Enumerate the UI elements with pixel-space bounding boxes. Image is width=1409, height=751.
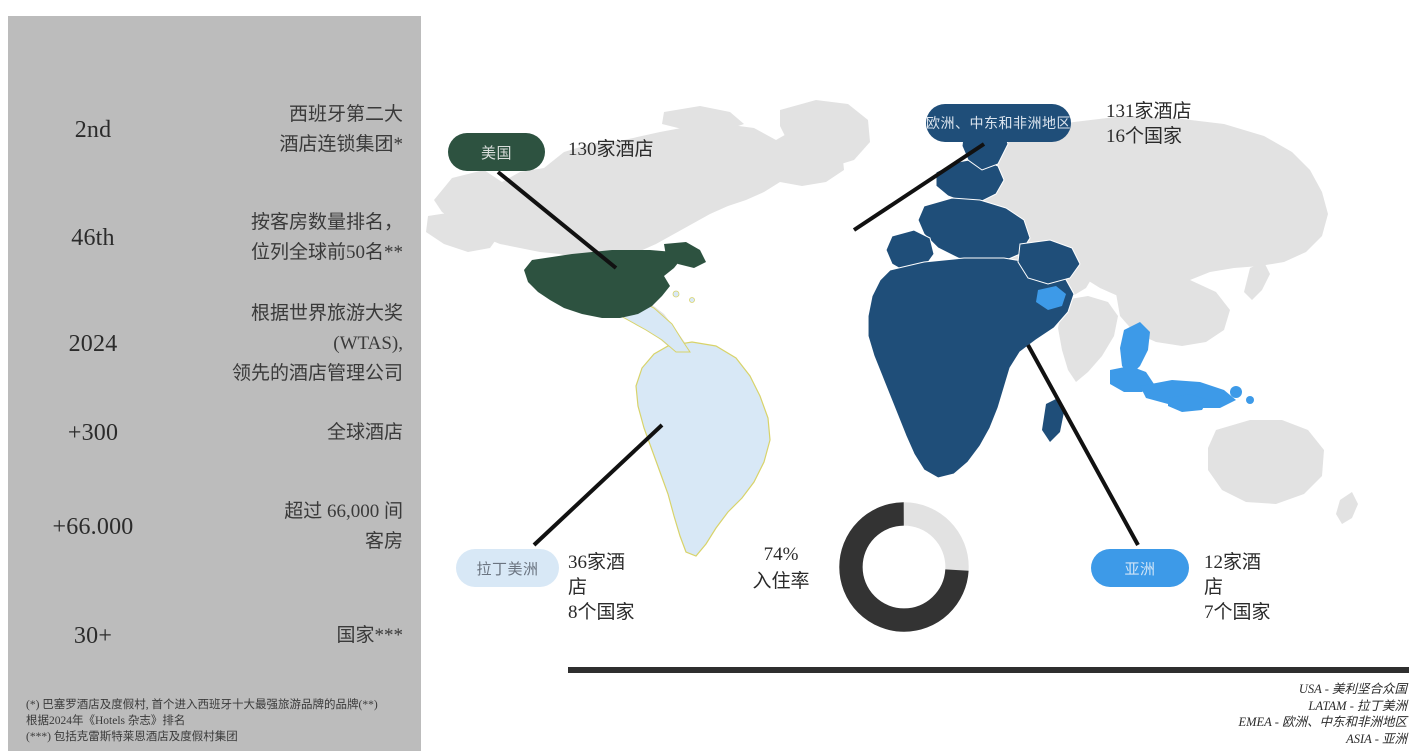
region-pill-emea[interactable]: 欧洲、中东和非洲地区: [926, 104, 1071, 142]
region-pill-asia[interactable]: 亚洲: [1091, 549, 1189, 587]
stat-label: 西班牙第二大 酒店连锁集团*: [178, 100, 421, 160]
stat-row: 46th 按客房数量排名， 位列全球前50名**: [8, 210, 421, 266]
legend: USA - 美利坚合众国 LATAM - 拉丁美洲 EMEA - 欧洲、中东和非…: [907, 681, 1409, 747]
stat-label: 全球酒店: [178, 418, 421, 448]
footnotes: (*) 巴塞罗酒店及度假村, 首个进入西班牙十大最强旅游品牌的品牌(**) 根据…: [26, 697, 416, 745]
stat-row: 2nd 西班牙第二大 酒店连锁集团*: [8, 102, 421, 158]
stat-label: 根据世界旅游大奖 (WTAS), 领先的酒店管理公司: [178, 299, 421, 389]
occupancy-donut-chart: [834, 497, 974, 637]
stat-row: +300 全球酒店: [8, 405, 421, 461]
divider: [568, 667, 1409, 673]
region-callout-asia: 12家酒 店 7个国家: [1204, 550, 1271, 625]
map-area: 美国 欧洲、中东和非洲地区 拉丁美洲 亚洲 130家酒店 131家酒店 16个国…: [424, 0, 1409, 751]
region-callout-emea: 131家酒店 16个国家: [1106, 99, 1192, 149]
connector-latam: [534, 425, 662, 545]
stat-row: 2024 根据世界旅游大奖 (WTAS), 领先的酒店管理公司: [8, 316, 421, 372]
stat-value: +300: [8, 420, 178, 447]
connector-emea: [854, 144, 984, 230]
stat-row: +66.000 超过 66,000 间 客房: [8, 499, 421, 555]
region-callout-latam: 36家酒 店 8个国家: [568, 550, 635, 625]
region-pill-latam[interactable]: 拉丁美洲: [456, 549, 559, 587]
stat-row: 30+ 国家***: [8, 608, 421, 664]
stats-panel: 2nd 西班牙第二大 酒店连锁集团* 46th 按客房数量排名， 位列全球前50…: [8, 16, 421, 751]
legend-item-emea: EMEA - 欧洲、中东和非洲地区: [907, 714, 1407, 731]
legend-item-latam: LATAM - 拉丁美洲: [907, 698, 1407, 715]
stat-value: 2nd: [8, 117, 178, 144]
stat-label: 按客房数量排名， 位列全球前50名**: [178, 208, 421, 268]
legend-item-usa: USA - 美利坚合众国: [907, 681, 1407, 698]
stat-value: 46th: [8, 225, 178, 252]
connector-asia: [1028, 345, 1138, 545]
stat-value: 2024: [8, 331, 178, 358]
stat-label: 国家***: [178, 621, 421, 651]
region-callout-usa: 130家酒店: [568, 137, 654, 162]
occupancy-label: 74% 入住率: [736, 541, 826, 595]
stat-value: +66.000: [8, 514, 178, 541]
donut-svg: [834, 497, 974, 637]
region-pill-usa[interactable]: 美国: [448, 133, 545, 171]
legend-item-asia: ASIA - 亚洲: [907, 731, 1407, 748]
connector-usa: [498, 172, 616, 268]
stat-value: 30+: [8, 623, 178, 650]
stat-label: 超过 66,000 间 客房: [178, 497, 421, 557]
